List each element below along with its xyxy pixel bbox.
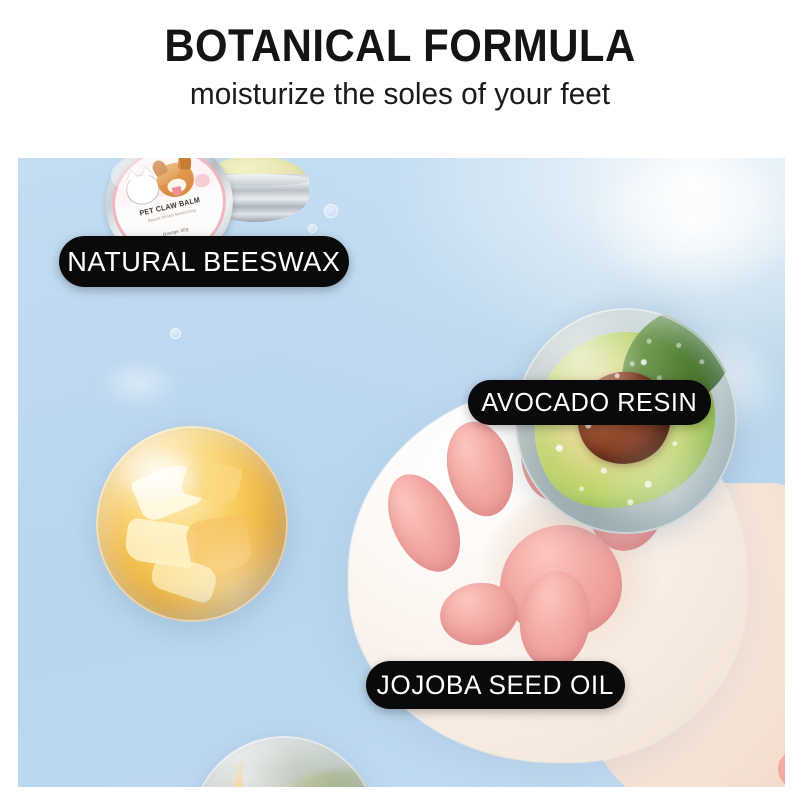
page-subtitle: moisturize the soles of your feet	[16, 77, 784, 111]
wax-sheen	[114, 444, 204, 506]
headline-block: BOTANICAL FORMULA moisturize the soles o…	[0, 22, 800, 111]
ingredient-label-beeswax: NATURAL BEESWAX	[59, 236, 349, 287]
ingredient-label-avocado: AVOCADO RESIN	[468, 380, 711, 425]
background-cloud-soft	[78, 348, 198, 418]
ingredient-sphere-beeswax	[96, 426, 288, 622]
dog-tongue	[172, 186, 183, 197]
ingredient-label-text: AVOCADO RESIN	[482, 387, 698, 418]
ingredient-label-text: NATURAL BEESWAX	[67, 246, 340, 278]
background-cloud-highlight	[545, 158, 785, 328]
page-title: BOTANICAL FORMULA	[28, 22, 772, 70]
bubble-dot-icon	[170, 328, 181, 339]
bubble-dot-icon	[324, 204, 338, 218]
beeswax-content	[96, 426, 288, 622]
paw-illustration-icon	[194, 172, 212, 188]
ingredient-label-jojoba: JOJOBA SEED OIL	[366, 661, 625, 709]
ingredient-label-text: JOJOBA SEED OIL	[377, 670, 614, 701]
product-infographic: BOTANICAL FORMULA moisturize the soles o…	[0, 0, 800, 800]
dog-illustration-icon	[154, 159, 198, 200]
